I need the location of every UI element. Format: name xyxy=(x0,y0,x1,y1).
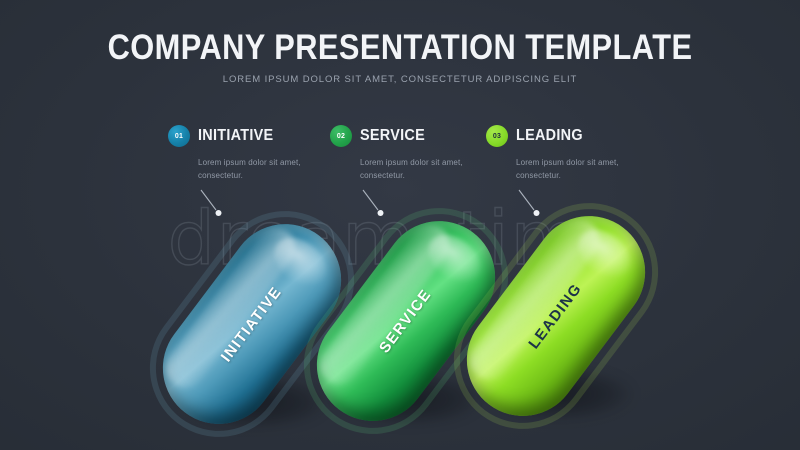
slide-canvas: COMPANY PRESENTATION TEMPLATE LOREM IPSU… xyxy=(0,0,800,450)
capsule-service[interactable]: SERVICE xyxy=(350,210,468,440)
capsule-initiative[interactable]: INITIATIVE xyxy=(196,213,314,443)
capsule-leading[interactable]: LEADING xyxy=(500,205,618,435)
capsules-container: INITIATIVE SERVICE LEADI xyxy=(0,0,800,450)
